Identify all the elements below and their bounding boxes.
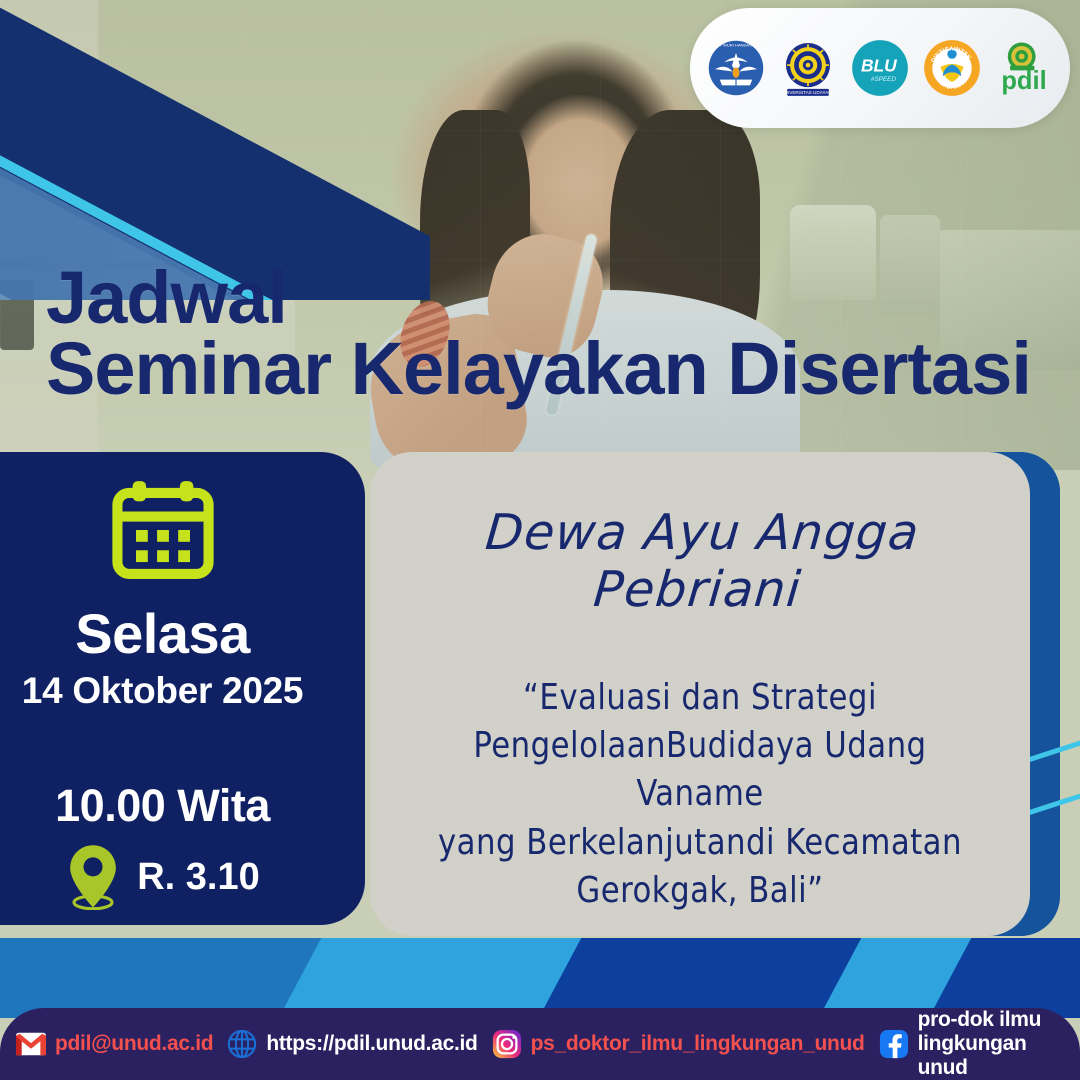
topic-line: Gerokgak, Bali” xyxy=(419,867,981,915)
title-line-2: Seminar Kelayakan Disertasi xyxy=(46,333,1026,404)
page-title: Jadwal Seminar Kelayakan Disertasi xyxy=(46,262,1026,404)
gmail-icon xyxy=(16,1029,46,1059)
topic-line: “Evaluasi dan Strategi xyxy=(419,674,981,722)
footer-item-facebook[interactable]: pro-dok ilmu lingkungan unud xyxy=(879,1008,1064,1080)
contact-footer: pdil@unud.ac.id https://pdil.unud.ac.id xyxy=(0,1008,1080,1080)
schedule-date: 14 Oktober 2025 xyxy=(22,670,303,712)
blu-text: BLU xyxy=(861,55,897,75)
tut-wuri-caption: TUT WURI HANDAYANI xyxy=(714,43,758,48)
diktisaintek-berdampak-logo: DIKTISAINTEK BERDAMPAK xyxy=(923,39,981,97)
schedule-card: Selasa 14 Oktober 2025 10.00 Wita R. 3.1… xyxy=(0,452,365,925)
footer-email-label: pdil@unud.ac.id xyxy=(55,1032,213,1056)
pdil-text: pdil xyxy=(1001,67,1046,95)
globe-icon xyxy=(227,1029,257,1059)
schedule-location-row: R. 3.10 xyxy=(65,844,260,910)
footer-item-instagram[interactable]: ps_doktor_ilmu_lingkungan_unud xyxy=(492,1029,865,1059)
presenter-topic: “Evaluasi dan Strategi PengelolaanBudida… xyxy=(419,674,981,915)
corner-ribbons xyxy=(0,0,430,300)
footer-item-email[interactable]: pdil@unud.ac.id xyxy=(16,1029,213,1059)
presenter-name: Dewa Ayu Angga Pebriani xyxy=(399,504,1001,618)
facebook-icon xyxy=(879,1029,909,1059)
schedule-time: 10.00 Wita xyxy=(55,780,270,832)
schedule-room: R. 3.10 xyxy=(137,856,260,899)
footer-item-website[interactable]: https://pdil.unud.ac.id xyxy=(227,1029,477,1059)
schedule-day: Selasa xyxy=(75,606,250,662)
topic-line: yang Berkelanjutandi Kecamatan xyxy=(419,819,981,867)
map-pin-icon xyxy=(65,844,121,910)
title-line-1: Jadwal xyxy=(46,262,1026,333)
poster-root: TUT WURI HANDAYANI UNIVERSITAS UDAYANA B… xyxy=(0,0,1080,1080)
instagram-icon xyxy=(492,1029,522,1059)
topic-line: PengelolaanBudidaya Udang Vaname xyxy=(419,722,981,818)
blu-speed-logo: BLU #SPEED xyxy=(851,39,909,97)
calendar-icon xyxy=(109,476,217,584)
udayana-caption: UNIVERSITAS UDAYANA xyxy=(781,90,835,95)
universitas-udayana-logo: UNIVERSITAS UDAYANA xyxy=(779,39,837,97)
footer-website-label: https://pdil.unud.ac.id xyxy=(266,1032,477,1056)
logo-bar: TUT WURI HANDAYANI UNIVERSITAS UDAYANA B… xyxy=(690,8,1070,128)
pdil-logo: pdil xyxy=(995,39,1053,97)
presenter-card: Dewa Ayu Angga Pebriani “Evaluasi dan St… xyxy=(370,452,1030,936)
speed-text: #SPEED xyxy=(871,76,897,83)
tut-wuri-handayani-logo: TUT WURI HANDAYANI xyxy=(707,39,765,97)
footer-instagram-label: ps_doktor_ilmu_lingkungan_unud xyxy=(531,1032,865,1056)
footer-facebook-label: pro-dok ilmu lingkungan unud xyxy=(918,1008,1064,1080)
